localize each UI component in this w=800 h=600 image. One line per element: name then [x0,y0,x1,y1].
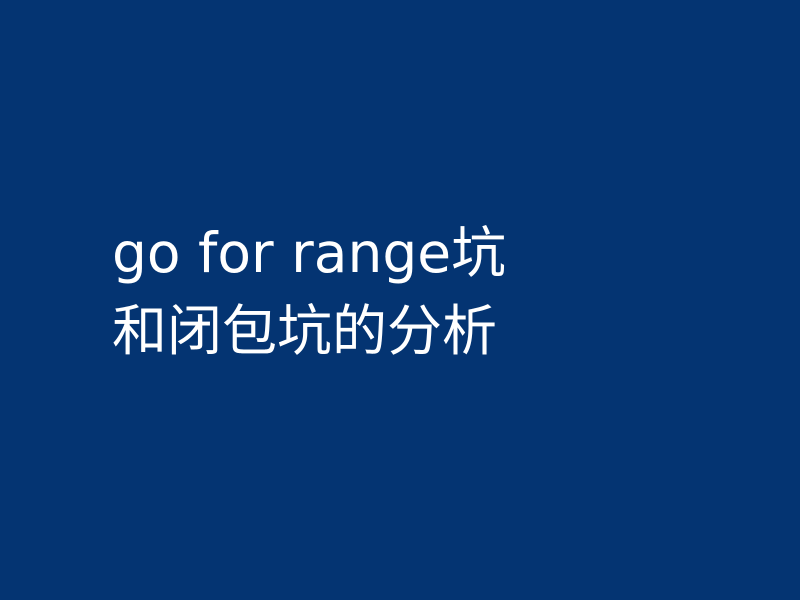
title-line-2: 和闭包坑的分析 [112,292,672,370]
page-title: go for range坑 和闭包坑的分析 [112,214,672,370]
title-slide: go for range坑 和闭包坑的分析 [0,0,800,600]
title-line-1: go for range坑 [112,214,672,292]
